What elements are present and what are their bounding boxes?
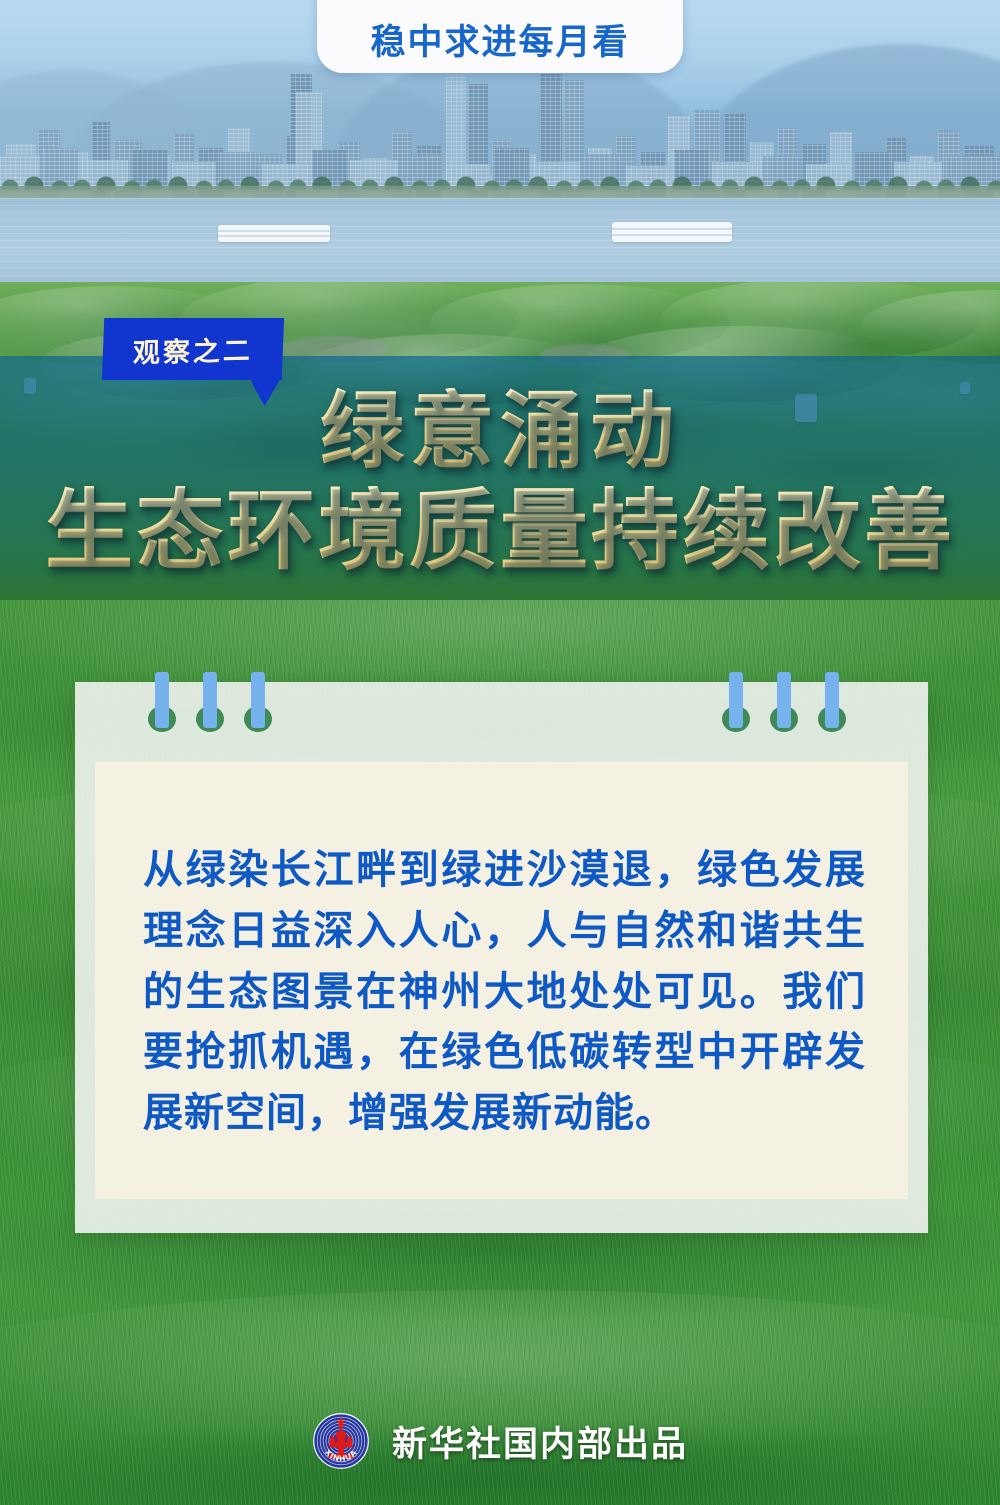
- series-pill-badge[interactable]: 稳中求进每月看: [317, 0, 683, 73]
- boat-right: [612, 222, 732, 242]
- poster-root: 稳中求进每月看 观察之二 绿意涌动 生态环境质量持续改善 从绿染长江畔到绿进沙漠…: [0, 0, 1000, 1505]
- pin-right-1: [722, 672, 750, 732]
- note-card-text: 从绿染长江畔到绿进沙漠退，绿色发展理念日益深入人心，人与自然和谐共生的生态图景在…: [95, 762, 908, 1199]
- pin-right-2: [770, 672, 798, 732]
- publisher-label: 新华社国内部出品: [392, 1416, 688, 1467]
- river-water: [0, 198, 1000, 290]
- footer: XINHUA 新华社国内部出品: [0, 1405, 1000, 1477]
- title-line-1: 绿意涌动: [0, 388, 1000, 474]
- boat-left: [218, 225, 330, 242]
- title-line-2: 生态环境质量持续改善: [0, 486, 1000, 576]
- section-ribbon-badge[interactable]: 观察之二: [103, 318, 283, 380]
- note-card-inner: 从绿染长江畔到绿进沙漠退，绿色发展理念日益深入人心，人与自然和谐共生的生态图景在…: [95, 762, 908, 1199]
- skyline-buildings-front: [0, 120, 1000, 190]
- pin-right-3: [818, 672, 846, 732]
- pin-left-2: [196, 672, 224, 732]
- main-title: 绿意涌动 生态环境质量持续改善: [0, 388, 1000, 575]
- series-pill-label: 稳中求进每月看: [370, 26, 629, 61]
- xinhua-logo-icon: XINHUA: [312, 1412, 370, 1470]
- ribbon-label: 观察之二: [102, 316, 283, 382]
- pin-left-1: [148, 672, 176, 732]
- pin-left-3: [244, 672, 272, 732]
